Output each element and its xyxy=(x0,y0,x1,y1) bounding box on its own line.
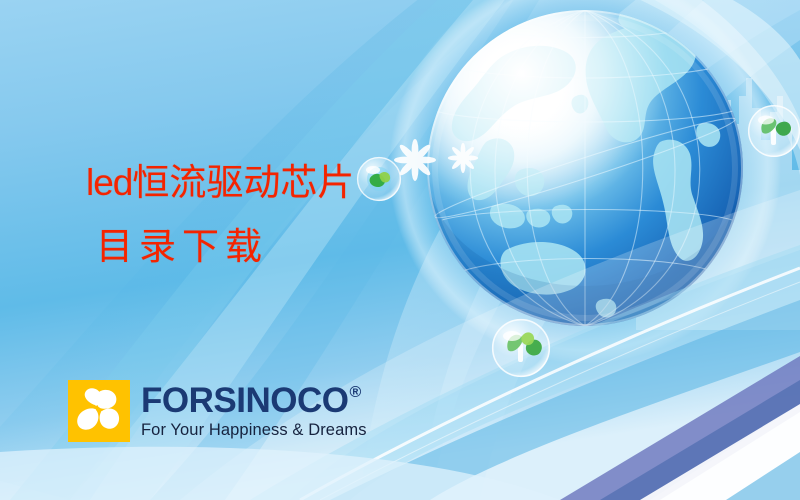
latitude-lines xyxy=(430,18,740,272)
logo-tagline: For Your Happiness & Dreams xyxy=(141,422,367,439)
daisy-sparkle xyxy=(448,143,478,173)
headline-block: led恒流驱动芯片 目录下载 xyxy=(0,160,420,271)
logo-brand-name: FORSINOCO® xyxy=(141,383,367,418)
logo-brand-text: FORSINOCO xyxy=(141,383,348,418)
logo-wordmark: FORSINOCO® For Your Happiness & Dreams xyxy=(141,383,367,439)
pinwheel-petals xyxy=(77,388,119,429)
longitude-lines xyxy=(470,10,700,326)
headline-line-1: led恒流驱动芯片 xyxy=(0,160,420,207)
headline-line-2: 目录下载 xyxy=(0,225,420,271)
earth-globe xyxy=(389,0,781,364)
landmasses xyxy=(452,10,720,318)
promo-banner: led恒流驱动芯片 目录下载 FORSINOCO® For Your Happi… xyxy=(0,0,800,500)
city-skyline-silhouette xyxy=(636,78,800,330)
headline-latin: led xyxy=(86,162,132,203)
registered-trademark-icon: ® xyxy=(349,385,360,401)
bubble-tree-icon xyxy=(492,319,550,377)
forsinoco-pinwheel-mark xyxy=(68,380,130,442)
headline-cjk: 恒流驱动芯片 xyxy=(132,163,354,204)
bubble-leaf-icon xyxy=(748,105,800,157)
forsinoco-logo[interactable]: FORSINOCO® For Your Happiness & Dreams xyxy=(68,380,367,442)
